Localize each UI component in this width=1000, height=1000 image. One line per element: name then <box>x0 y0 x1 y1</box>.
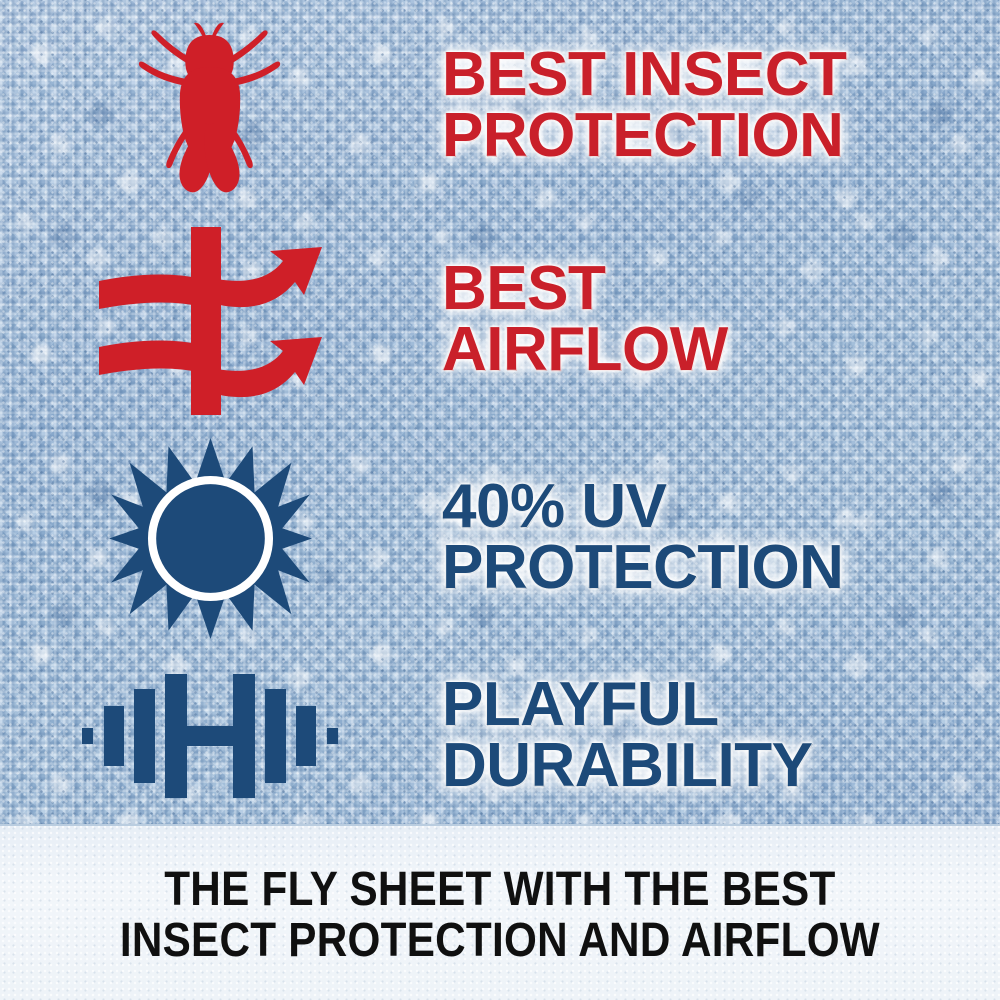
dumbbell-durability-icon <box>80 666 340 806</box>
feature-icon-cell <box>0 11 420 201</box>
feature-label-durability: PLAYFUL DURABILITY <box>442 675 1000 797</box>
feature-row-airflow: BEST AIRFLOW <box>0 212 1000 428</box>
feature-icon-cell <box>0 223 420 418</box>
feature-label-insect-protection: BEST INSECT PROTECTION <box>442 45 1000 167</box>
feature-icon-cell <box>0 666 420 806</box>
airflow-through-fabric-icon <box>95 223 325 418</box>
feature-label-airflow: BEST AIRFLOW <box>442 259 1000 381</box>
feature-label-uv-protection: 40% UV PROTECTION <box>442 477 1000 599</box>
feature-text-cell: BEST INSECT PROTECTION <box>420 45 1000 167</box>
feature-text-cell: 40% UV PROTECTION <box>420 477 1000 599</box>
fly-icon <box>115 11 305 201</box>
infographic-canvas: BEST INSECT PROTECTION BEST AIRFLOW <box>0 0 1000 1000</box>
feature-row-durability: PLAYFUL DURABILITY <box>0 648 1000 824</box>
caption-band: THE FLY SHEET WITH THE BEST INSECT PROTE… <box>0 824 1000 1000</box>
feature-row-insect-protection: BEST INSECT PROTECTION <box>0 0 1000 212</box>
sun-uv-icon <box>108 436 313 641</box>
feature-text-cell: BEST AIRFLOW <box>420 259 1000 381</box>
feature-icon-cell <box>0 436 420 641</box>
feature-row-uv-protection: 40% UV PROTECTION <box>0 428 1000 648</box>
feature-text-cell: PLAYFUL DURABILITY <box>420 675 1000 797</box>
caption-headline: THE FLY SHEET WITH THE BEST INSECT PROTE… <box>120 858 880 967</box>
